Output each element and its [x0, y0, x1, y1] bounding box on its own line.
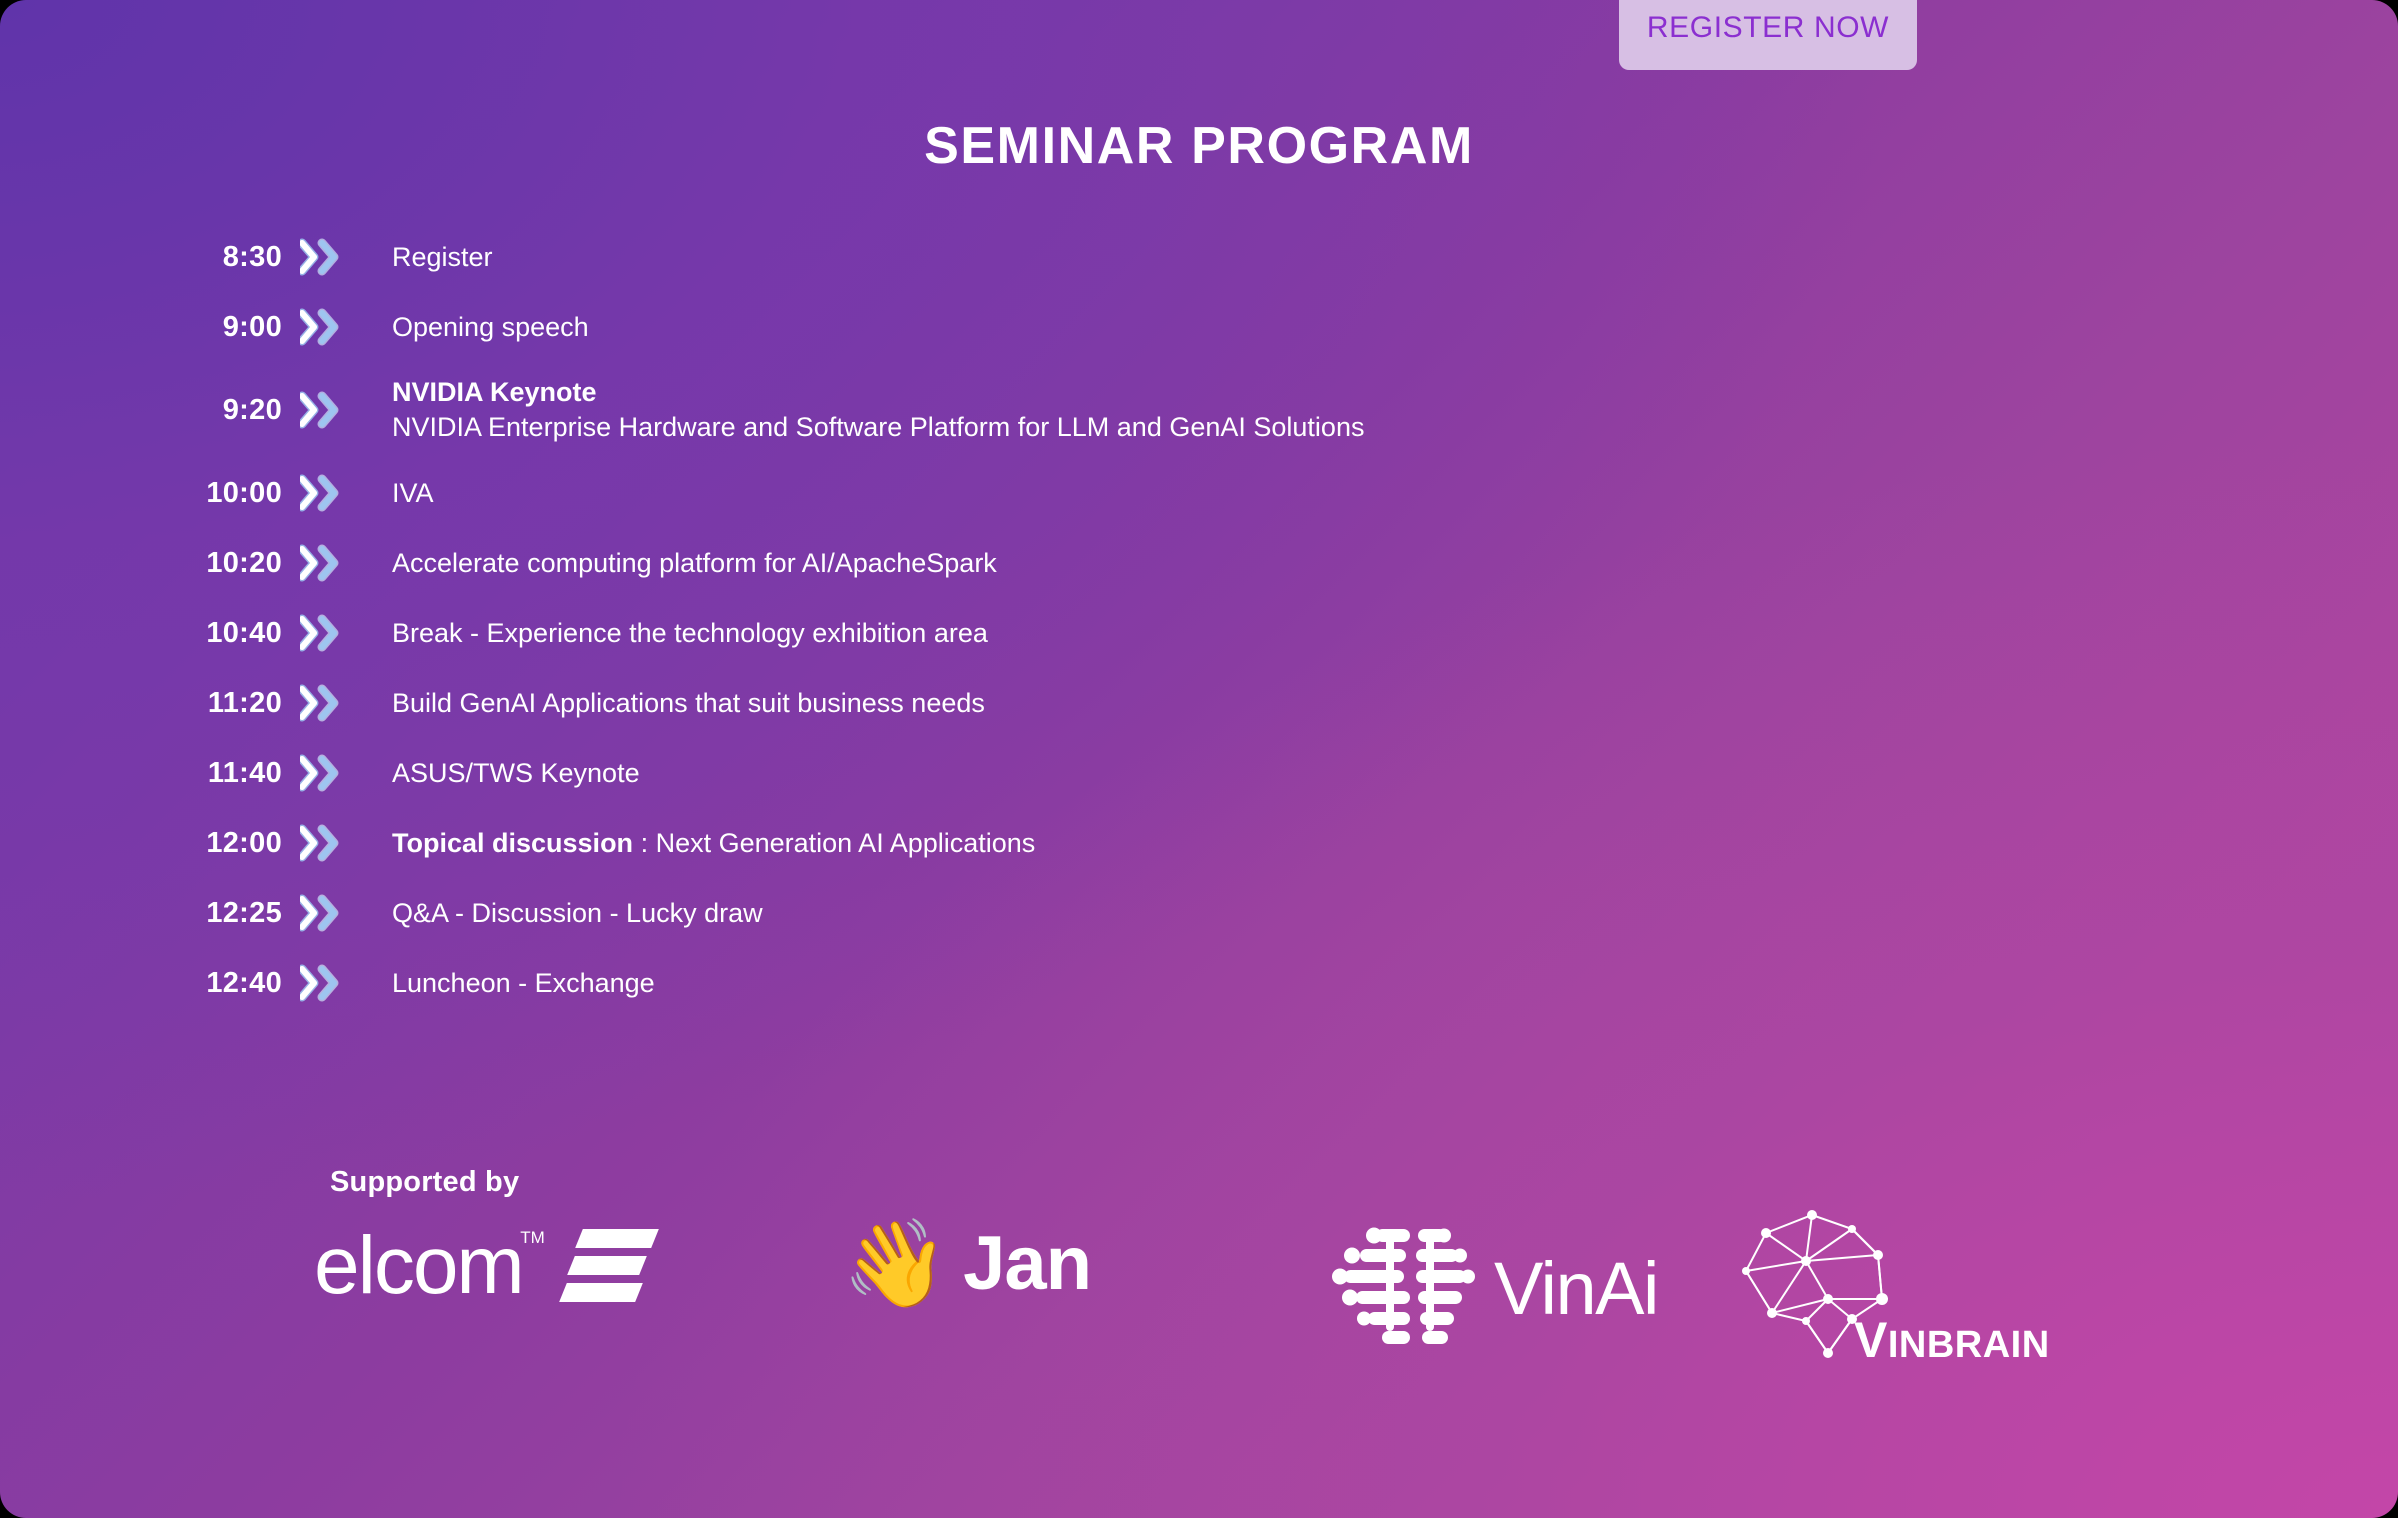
elcom-tm-mark: TM	[520, 1229, 545, 1246]
agenda-row-time: 8:30	[0, 241, 300, 274]
jan-wordmark: Jan	[963, 1226, 1091, 1302]
double-chevron-icon	[300, 544, 380, 582]
double-chevron-icon	[300, 474, 380, 512]
agenda-row-title-tail: : Next Generation AI Applications	[633, 828, 1035, 858]
agenda-row-title: Break - Experience the technology exhibi…	[392, 616, 2398, 651]
vinbrain-wordmark: VINBRAIN	[1854, 1315, 2050, 1365]
agenda-row-time: 11:40	[0, 757, 300, 790]
double-chevron-icon	[300, 824, 380, 862]
agenda-row-time: 10:40	[0, 617, 300, 650]
agenda-row: 11:20Build GenAI Applications that suit …	[0, 668, 2398, 738]
agenda-row-title-text: Register	[392, 242, 493, 272]
double-chevron-icon	[300, 308, 380, 346]
agenda-row-title: NVIDIA Keynote	[392, 375, 2398, 410]
sponsor-logo-jan: 👋 Jan	[842, 1221, 1091, 1307]
agenda-row-text: Build GenAI Applications that suit busin…	[380, 686, 2398, 721]
page-title: SEMINAR PROGRAM	[0, 116, 2398, 176]
elcom-wordmark: elcom TM	[314, 1225, 523, 1307]
agenda-list: 8:30Register9:00Opening speech9:20NVIDIA…	[0, 222, 2398, 1018]
double-chevron-icon	[300, 894, 380, 932]
agenda-row: 9:00Opening speech	[0, 292, 2398, 362]
agenda-row-text: Register	[380, 240, 2398, 275]
double-chevron-icon	[300, 614, 380, 652]
agenda-row-title-text: ASUS/TWS Keynote	[392, 758, 640, 788]
seminar-program-slide: REGISTER NOW SEMINAR PROGRAM 8:30Registe…	[0, 0, 2398, 1518]
agenda-row: 10:40Break - Experience the technology e…	[0, 598, 2398, 668]
double-chevron-icon	[300, 754, 380, 792]
agenda-row-time: 12:40	[0, 967, 300, 1000]
agenda-row: 11:40ASUS/TWS Keynote	[0, 738, 2398, 808]
agenda-row-text: Opening speech	[380, 310, 2398, 345]
sponsor-logo-vinbrain: VINBRAIN	[1732, 1203, 2052, 1373]
agenda-row-time: 11:20	[0, 687, 300, 720]
agenda-row-title: IVA	[392, 476, 2398, 511]
sponsor-logo-strip: elcom TM 👋 Jan	[300, 1215, 2200, 1365]
agenda-row-title-text: Accelerate computing platform for AI/Apa…	[392, 548, 997, 578]
vinai-wordmark: VinAi	[1494, 1252, 1658, 1326]
agenda-row: 9:20NVIDIA KeynoteNVIDIA Enterprise Hard…	[0, 362, 2398, 458]
agenda-row-text: Q&A - Discussion - Lucky draw	[380, 896, 2398, 931]
agenda-row-title-text: Build GenAI Applications that suit busin…	[392, 688, 985, 718]
agenda-row-title: Topical discussion : Next Generation AI …	[392, 826, 2398, 861]
agenda-row-text: Accelerate computing platform for AI/Apa…	[380, 546, 2398, 581]
agenda-row-time: 10:20	[0, 547, 300, 580]
double-chevron-icon	[300, 391, 380, 429]
agenda-row-title: ASUS/TWS Keynote	[392, 756, 2398, 791]
agenda-row-text: Luncheon - Exchange	[380, 966, 2398, 1001]
elcom-e-icon	[563, 1227, 655, 1305]
agenda-row-title-text: Q&A - Discussion - Lucky draw	[392, 898, 763, 928]
agenda-row-text: Break - Experience the technology exhibi…	[380, 616, 2398, 651]
agenda-row-time: 9:20	[0, 394, 300, 427]
agenda-row-text: IVA	[380, 476, 2398, 511]
agenda-row-title: Register	[392, 240, 2398, 275]
vinbrain-wordmark-rest: INBRAIN	[1888, 1324, 2050, 1366]
double-chevron-icon	[300, 684, 380, 722]
agenda-row-title: Accelerate computing platform for AI/Apa…	[392, 546, 2398, 581]
agenda-row: 12:25Q&A - Discussion - Lucky draw	[0, 878, 2398, 948]
waving-hand-icon: 👋	[842, 1221, 949, 1307]
agenda-row-title-text: NVIDIA Keynote	[392, 377, 597, 407]
agenda-row: 12:40Luncheon - Exchange	[0, 948, 2398, 1018]
vinbrain-wordmark-cap: V	[1854, 1312, 1888, 1368]
vinai-circuit-icon	[1330, 1221, 1480, 1356]
agenda-row-text: ASUS/TWS Keynote	[380, 756, 2398, 791]
agenda-row: 10:00IVA	[0, 458, 2398, 528]
agenda-row-title-text: Break - Experience the technology exhibi…	[392, 618, 988, 648]
double-chevron-icon	[300, 238, 380, 276]
agenda-row-subtitle: NVIDIA Enterprise Hardware and Software …	[392, 410, 2398, 445]
agenda-row-text: NVIDIA KeynoteNVIDIA Enterprise Hardware…	[380, 375, 2398, 444]
agenda-row-time: 12:00	[0, 827, 300, 860]
supported-by-label: Supported by	[330, 1166, 519, 1199]
agenda-row-title-text: Opening speech	[392, 312, 589, 342]
agenda-row-time: 10:00	[0, 477, 300, 510]
elcom-wordmark-text: elcom	[314, 1220, 523, 1311]
agenda-row-time: 9:00	[0, 311, 300, 344]
agenda-row: 10:20Accelerate computing platform for A…	[0, 528, 2398, 598]
sponsor-logo-vinai: VinAi	[1330, 1221, 1658, 1356]
agenda-row-title: Opening speech	[392, 310, 2398, 345]
register-now-button[interactable]: REGISTER NOW	[1619, 0, 1917, 70]
agenda-row-title: Build GenAI Applications that suit busin…	[392, 686, 2398, 721]
agenda-row-title-text: Luncheon - Exchange	[392, 968, 655, 998]
agenda-row-title-text: IVA	[392, 478, 434, 508]
agenda-row-title-text: Topical discussion	[392, 828, 633, 858]
sponsor-logo-elcom: elcom TM	[314, 1225, 655, 1307]
agenda-row-text: Topical discussion : Next Generation AI …	[380, 826, 2398, 861]
agenda-row: 12:00Topical discussion : Next Generatio…	[0, 808, 2398, 878]
agenda-row-title: Q&A - Discussion - Lucky draw	[392, 896, 2398, 931]
double-chevron-icon	[300, 964, 380, 1002]
agenda-row-time: 12:25	[0, 897, 300, 930]
agenda-row-title: Luncheon - Exchange	[392, 966, 2398, 1001]
agenda-row: 8:30Register	[0, 222, 2398, 292]
